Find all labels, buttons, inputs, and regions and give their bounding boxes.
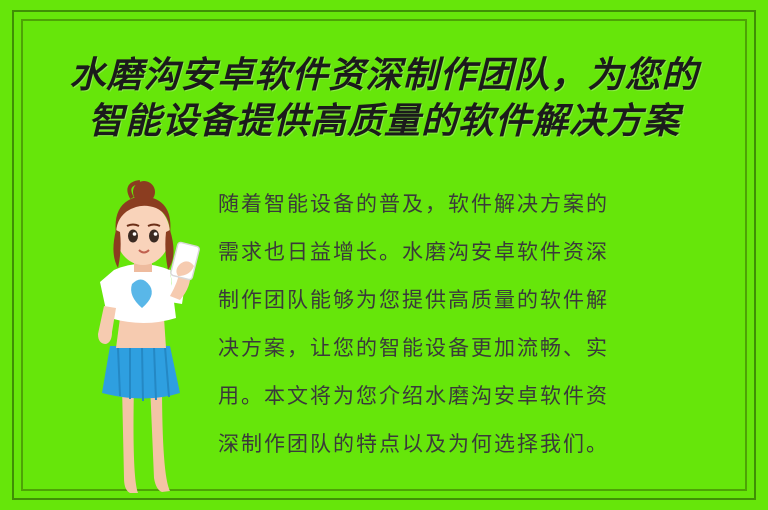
body-line-6: 深制作团队的特点以及为何选择我们。 <box>218 420 722 468</box>
skirt-shape <box>102 346 180 401</box>
phone-shape <box>170 242 200 280</box>
body-line-3: 制作团队能够为您提供高质量的软件解 <box>218 276 722 324</box>
girl-with-phone-character <box>70 178 220 498</box>
body-line-5: 用。本文将为您介绍水磨沟安卓软件资 <box>218 372 722 420</box>
page-title: 水磨沟安卓软件资深制作团队，为您的 智能设备提供高质量的软件解决方案 <box>34 52 734 144</box>
title-line-1: 水磨沟安卓软件资深制作团队，为您的 <box>34 52 734 98</box>
poster-canvas: 水磨沟安卓软件资深制作团队，为您的 智能设备提供高质量的软件解决方案 随着智能设… <box>0 0 768 510</box>
head-shape <box>113 181 173 270</box>
body-paragraph: 随着智能设备的普及，软件解决方案的 需求也日益增长。水磨沟安卓软件资深 制作团队… <box>218 180 722 468</box>
body-line-2: 需求也日益增长。水磨沟安卓软件资深 <box>218 228 722 276</box>
body-line-1: 随着智能设备的普及，软件解决方案的 <box>218 180 722 228</box>
title-line-2: 智能设备提供高质量的软件解决方案 <box>34 98 734 144</box>
body-line-4: 决方案，让您的智能设备更加流畅、实 <box>218 324 722 372</box>
legs-shape <box>122 383 170 493</box>
